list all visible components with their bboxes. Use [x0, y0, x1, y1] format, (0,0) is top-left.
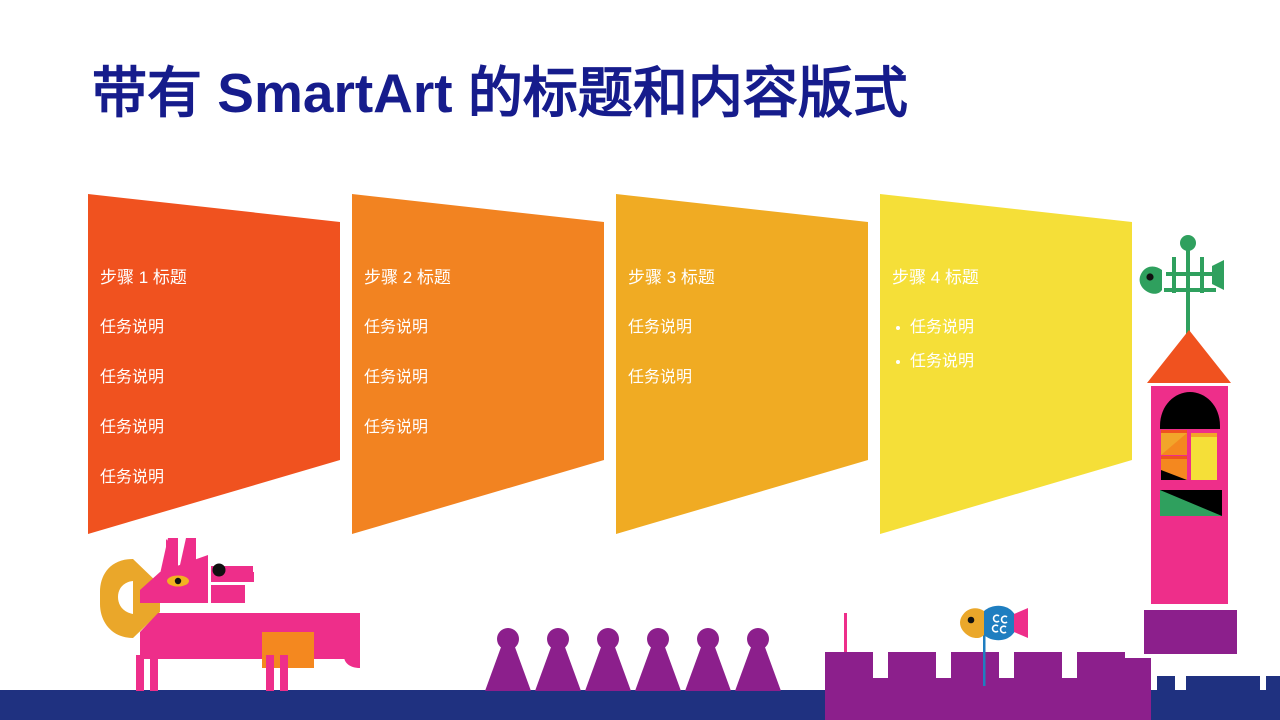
step-2-line-3: 任务说明: [364, 418, 451, 438]
smartart-step-4[interactable]: 步骤 4 标题 任务说明 任务说明: [892, 268, 979, 386]
step-1-line-4: 任务说明: [100, 468, 187, 488]
castle-flagpole: [844, 613, 847, 655]
tower-roof: [1147, 330, 1231, 383]
dog-leg-4: [280, 655, 288, 691]
green-fish-weathervane-icon: [1140, 235, 1224, 340]
dog-leg-1: [136, 655, 144, 691]
dog-snout-lower: [211, 585, 245, 603]
step-2-line-1: 任务说明: [364, 318, 451, 338]
step-2-line-2: 任务说明: [364, 368, 451, 388]
purple-castle-illustration: [825, 606, 1125, 720]
dog-body: [140, 613, 360, 659]
person-5: [685, 628, 731, 691]
pink-dog-illustration: [100, 538, 360, 691]
dog-snout-tip: [245, 572, 254, 582]
dog-pupil-icon: [175, 578, 181, 584]
person-2: [535, 628, 581, 691]
step-4-bullet-1: 任务说明: [892, 318, 979, 338]
tower-left-pillar: [1125, 658, 1151, 720]
person-6: [735, 628, 781, 691]
step-1-line-3: 任务说明: [100, 418, 187, 438]
purple-crowd-illustration: [485, 628, 781, 691]
lighthouse-tower-illustration: [1125, 235, 1237, 720]
smartart-step-2[interactable]: 步骤 2 标题 任务说明 任务说明 任务说明: [364, 268, 451, 468]
smartart-step-1[interactable]: 步骤 1 标题 任务说明 任务说明 任务说明 任务说明: [100, 268, 187, 518]
step-1-line-2: 任务说明: [100, 368, 187, 388]
step-4-title: 步骤 4 标题: [892, 268, 979, 288]
fish-pole: [983, 630, 986, 686]
step-4-bullet-2: 任务说明: [892, 352, 979, 372]
blue-orange-fish-icon: [960, 606, 1028, 641]
step-3-line-2: 任务说明: [628, 368, 715, 388]
dog-leg-3: [266, 655, 274, 691]
person-1: [485, 628, 531, 691]
smartart-step-3[interactable]: 步骤 3 标题 任务说明 任务说明: [628, 268, 715, 418]
castle-wall-body: [825, 678, 1125, 720]
step-3-line-1: 任务说明: [628, 318, 715, 338]
person-3: [585, 628, 631, 691]
dog-leg-2: [150, 655, 158, 691]
step-1-title: 步骤 1 标题: [100, 268, 187, 288]
dog-collar-icon: [100, 559, 133, 638]
step-3-title: 步骤 3 标题: [628, 268, 715, 288]
person-4: [635, 628, 681, 691]
presentation-slide: 带有 SmartArt 的标题和内容版式: [0, 0, 1280, 720]
step-2-title: 步骤 2 标题: [364, 268, 451, 288]
tower-base: [1144, 610, 1237, 654]
dog-nose-icon: [213, 564, 226, 577]
step-1-line-1: 任务说明: [100, 318, 187, 338]
